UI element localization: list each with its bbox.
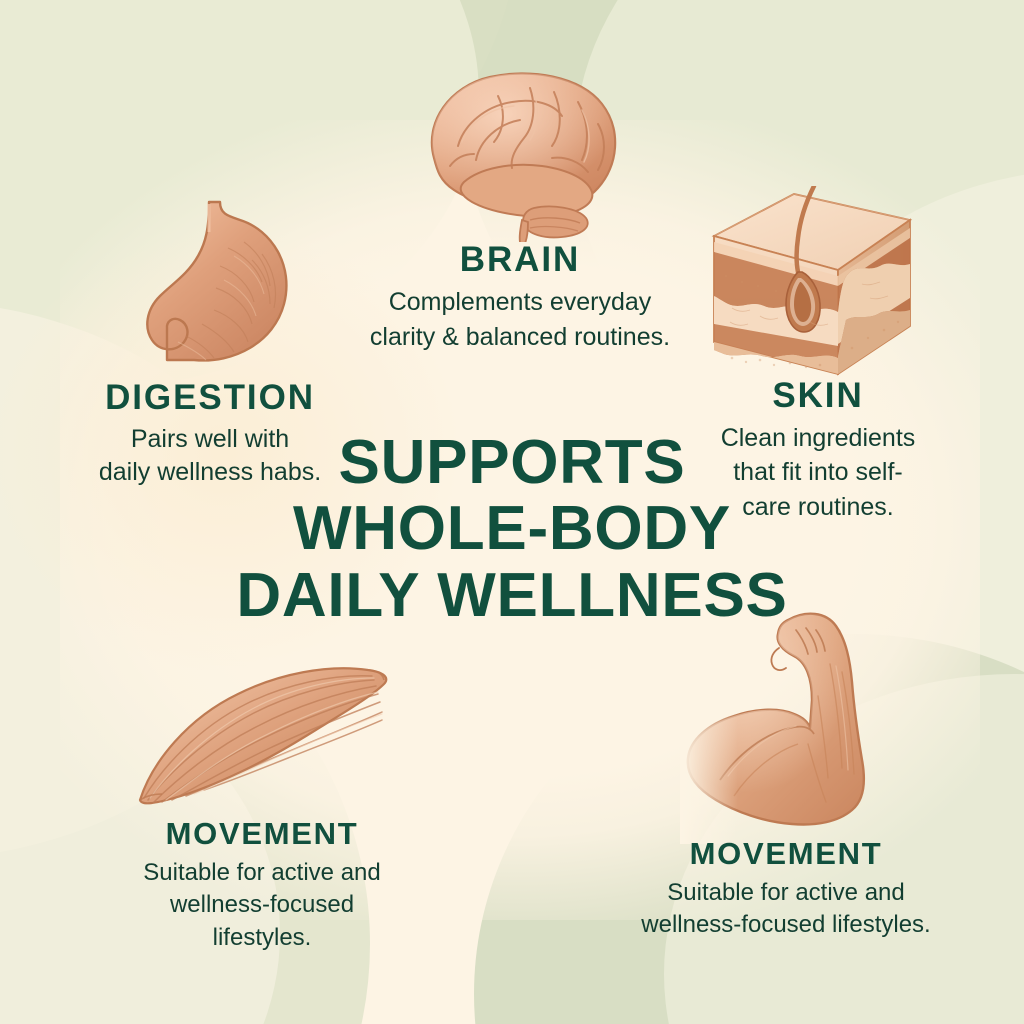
pod-movement-left-body-line-3: lifestyles. (213, 924, 312, 951)
pod-brain: BRAIN Complements everyday clarity & bal… (330, 242, 710, 355)
pod-brain-body: Complements everyday clarity & balanced … (330, 285, 710, 355)
stomach-illustration (116, 192, 306, 382)
flexed-arm-illustration (680, 604, 940, 854)
pod-movement-right-body: Suitable for active and wellness-focused… (598, 877, 974, 942)
pod-movement-left-body-line-2: wellness-focused (170, 891, 354, 918)
poster-headline: SUPPORTS WHOLE-BODY DAILY WELLNESS (232, 430, 792, 629)
wellness-infographic-poster: DIGESTION Pairs well with daily wellness… (0, 0, 1024, 1024)
headline-line-2: WHOLE-BODY (232, 496, 792, 562)
pod-movement-right-title: MOVEMENT (598, 838, 974, 871)
pod-movement-left-body-line-1: Suitable for active and (143, 859, 380, 886)
pod-movement-left: MOVEMENT Suitable for active and wellnes… (112, 818, 412, 954)
pod-brain-body-line-2: clarity & balanced routines. (370, 323, 670, 351)
pod-brain-body-line-1: Complements everyday (389, 288, 652, 316)
pod-digestion-title: DIGESTION (64, 380, 356, 417)
pod-movement-right-body-line-1: Suitable for active and (667, 879, 904, 906)
headline-line-1: SUPPORTS (232, 430, 792, 496)
skin-cross-section-illustration (702, 186, 918, 382)
pod-movement-right: MOVEMENT Suitable for active and wellnes… (598, 838, 974, 942)
headline-line-3: DAILY WELLNESS (232, 563, 792, 629)
pod-movement-left-body: Suitable for active and wellness-focused… (112, 857, 412, 955)
pod-movement-left-title: MOVEMENT (112, 818, 412, 851)
pod-movement-right-body-line-2: wellness-focused lifestyles. (641, 911, 930, 938)
brain-illustration (402, 62, 632, 242)
pod-brain-title: BRAIN (330, 242, 710, 279)
muscle-fiber-illustration (128, 652, 408, 820)
pod-skin-title: SKIN (694, 378, 942, 415)
